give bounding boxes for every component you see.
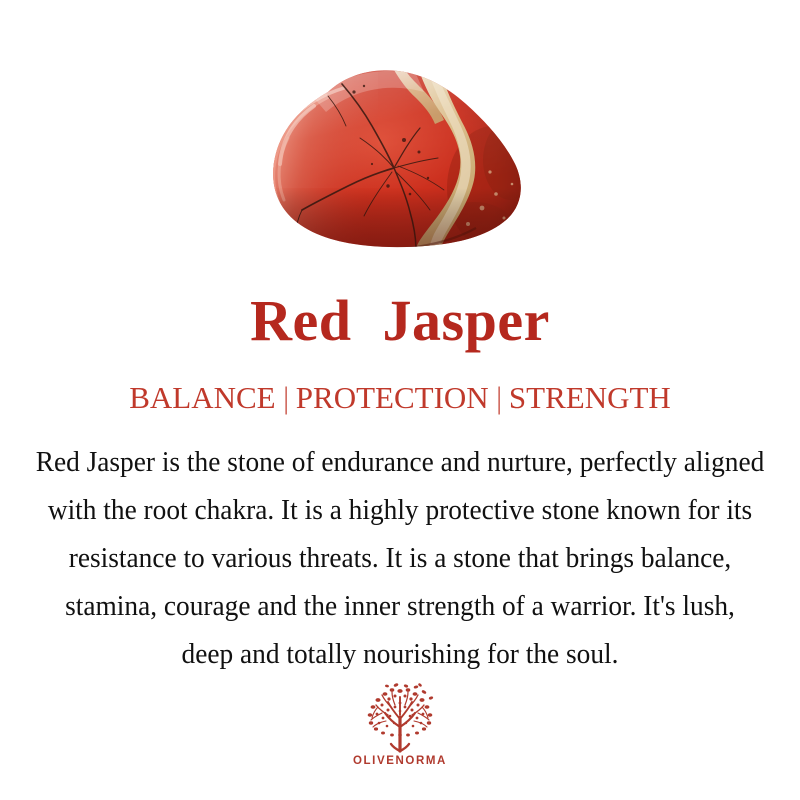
brand-logo: OLIVENORMA <box>0 683 800 767</box>
description-line: Red Jasper is the stone of endurance and… <box>21 439 779 487</box>
tree-of-life-icon <box>362 683 438 753</box>
description-paragraph: Red Jasper is the stone of endurance and… <box>5 413 795 679</box>
brand-wordmark: OLIVENORMA <box>353 755 447 767</box>
keyword-balance: BALANCE <box>129 380 275 415</box>
description-line: stamina, courage and the inner strength … <box>21 583 779 631</box>
hero-image-area <box>0 0 800 270</box>
keywords-line: BALANCE|PROTECTION|STRENGTH <box>129 350 671 413</box>
keyword-separator-1: | <box>278 382 294 413</box>
description-line: deep and totally nourishing for the soul… <box>21 631 779 679</box>
red-jasper-stone-image <box>268 68 532 263</box>
page-title: Red Jasper <box>250 270 550 350</box>
keyword-separator-2: | <box>491 382 507 413</box>
red-jasper-info-card: Red Jasper BALANCE|PROTECTION|STRENGTH R… <box>0 0 800 800</box>
description-line: resistance to various threats. It is a s… <box>21 535 779 583</box>
keyword-strength: STRENGTH <box>509 380 671 415</box>
description-line: with the root chakra. It is a highly pro… <box>21 487 779 535</box>
keyword-protection: PROTECTION <box>296 380 489 415</box>
